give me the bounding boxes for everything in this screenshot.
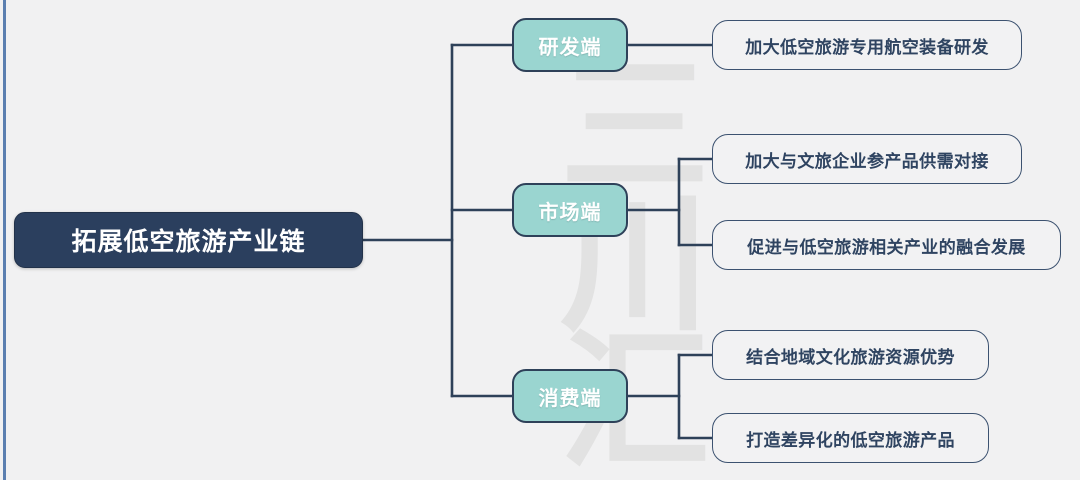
leaf-node-market-1-label: 加大与文旅企业参产品供需对接 [745,147,989,172]
root-node[interactable]: 拓展低空旅游产业链 [14,212,363,268]
root-node-label: 拓展低空旅游产业链 [71,222,305,258]
leaf-node-rd-1-label: 加大低空旅游专用航空装备研发 [745,33,989,58]
diagram-canvas: 三 川 汇 拓展低空旅游产业链 [0,0,1080,480]
branch-node-consumption-label: 消费端 [539,382,602,411]
leaf-node-consumption-2-label: 打造差异化的低空旅游产品 [746,426,955,451]
leaf-node-market-2[interactable]: 促进与低空旅游相关产业的融合发展 [712,220,1061,270]
leaf-node-consumption-1[interactable]: 结合地域文化旅游资源优势 [712,330,989,380]
leaf-node-consumption-2[interactable]: 打造差异化的低空旅游产品 [712,413,989,463]
leaf-node-consumption-1-label: 结合地域文化旅游资源优势 [746,343,955,368]
leaf-node-market-2-label: 促进与低空旅游相关产业的融合发展 [747,233,1025,258]
branch-node-consumption[interactable]: 消费端 [512,369,628,423]
branch-node-market[interactable]: 市场端 [512,183,628,237]
leaf-node-market-1[interactable]: 加大与文旅企业参产品供需对接 [712,134,1022,184]
branch-node-rd-label: 研发端 [539,31,602,60]
leaf-node-rd-1[interactable]: 加大低空旅游专用航空装备研发 [712,20,1022,70]
left-edge-rule [3,0,6,480]
branch-node-market-label: 市场端 [539,196,602,225]
branch-node-rd[interactable]: 研发端 [512,18,628,72]
